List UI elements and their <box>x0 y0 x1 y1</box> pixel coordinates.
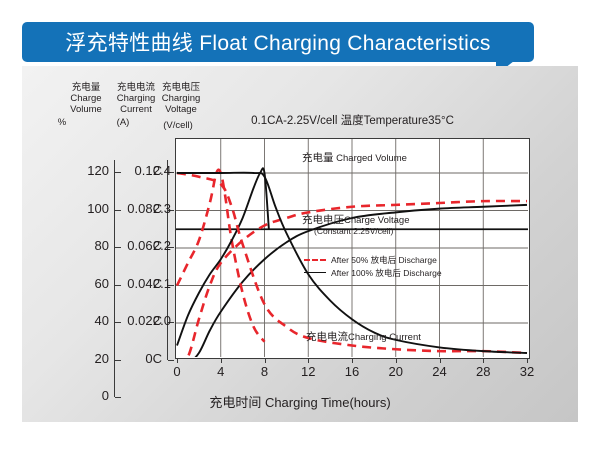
x-tick-3 <box>308 359 309 363</box>
legend-item-after-50: After 50% 放电后 Discharge <box>304 253 442 266</box>
x-tick-label-8: 32 <box>507 364 547 379</box>
y-tick-label-0-3: 60 <box>53 276 109 291</box>
x-tick-2 <box>265 359 266 363</box>
annotation-charging-current: 充电电流Charging Current <box>306 332 421 343</box>
y-tick-label-0-2: 40 <box>53 313 109 328</box>
y-tick-label-0-6: 120 <box>53 163 109 178</box>
legend-swatch-dashed-icon <box>304 259 326 261</box>
condition-note: 0.1CA-2.25V/cell 温度Temperature35°C <box>175 112 530 128</box>
legend-swatch-solid-icon <box>304 272 326 273</box>
x-tick-label-4: 16 <box>332 364 372 379</box>
y-tick-label-2-4: 2.4 <box>131 163 171 178</box>
axis-header-charging-voltage: 充电电压 Charging Voltage <box>150 82 212 115</box>
chart-page: 浮充特性曲线 Float Charging Characteristics 充电… <box>0 0 600 451</box>
title-banner: 浮充特性曲线 Float Charging Characteristics <box>22 22 534 62</box>
y-tick-label-2-3: 2.3 <box>131 201 171 216</box>
x-tick-label-2: 8 <box>245 364 285 379</box>
y-tick-1-0 <box>168 360 174 361</box>
chart-legend: After 50% 放电后 Discharge After 100% 放电后 D… <box>304 253 442 279</box>
legend-item-after-100: After 100% 放电后 Discharge <box>304 266 442 279</box>
x-axis-label: 充电时间 Charging Time(hours) <box>22 392 578 411</box>
x-tick-label-7: 28 <box>463 364 503 379</box>
plot-svg <box>176 139 528 357</box>
plot-area: 充电量 Charged Volume 充电电压Charge Voltage (C… <box>175 138 530 359</box>
annotation-charge-voltage: 充电电压Charge Voltage (Constant 2.25V/cell) <box>302 215 410 237</box>
y-tick-label-2-2: 2.2 <box>131 238 171 253</box>
y-tick-label-1-0: 0C <box>106 351 162 366</box>
y-axis-rule-1 <box>167 160 168 360</box>
page-title: 浮充特性曲线 Float Charging Characteristics <box>22 22 534 62</box>
y-tick-label-0-4: 80 <box>53 238 109 253</box>
y-tick-label-2-0: 2.0 <box>131 313 171 328</box>
x-tick-label-3: 12 <box>288 364 328 379</box>
x-tick-0 <box>177 359 178 363</box>
x-tick-4 <box>352 359 353 363</box>
y-tick-label-0-1: 20 <box>53 351 109 366</box>
x-tick-label-5: 20 <box>376 364 416 379</box>
annotation-charged-volume: 充电量 Charged Volume <box>302 153 407 164</box>
x-tick-label-0: 0 <box>157 364 197 379</box>
x-tick-6 <box>440 359 441 363</box>
x-tick-1 <box>221 359 222 363</box>
x-tick-5 <box>396 359 397 363</box>
x-tick-8 <box>527 359 528 363</box>
x-tick-label-1: 4 <box>201 364 241 379</box>
x-tick-label-6: 24 <box>420 364 460 379</box>
axis-unit-ampere: (A) <box>110 117 136 128</box>
y-tick-label-0-5: 100 <box>53 201 109 216</box>
x-tick-7 <box>483 359 484 363</box>
axis-unit-percent: % <box>50 117 74 128</box>
y-tick-label-2-1: 2.1 <box>131 276 171 291</box>
